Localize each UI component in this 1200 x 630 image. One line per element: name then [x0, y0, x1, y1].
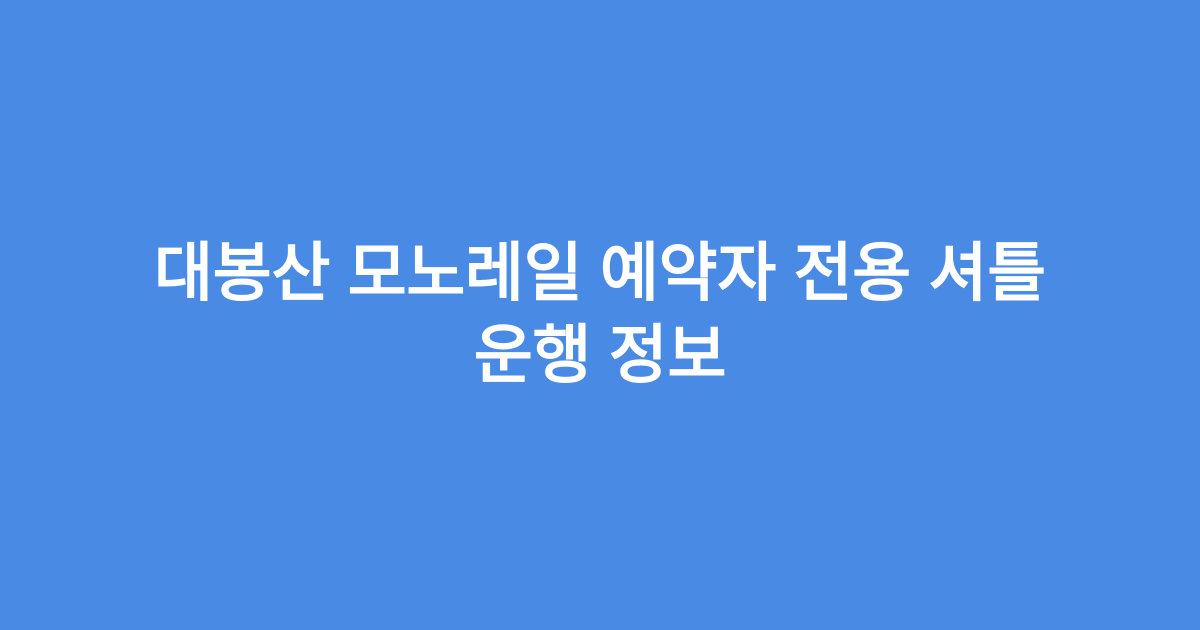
banner-content: 대봉산 모노레일 예약자 전용 셔틀 운행 정보 [56, 233, 1144, 397]
page-title: 대봉산 모노레일 예약자 전용 셔틀 운행 정보 [120, 233, 1080, 397]
share-banner-card: 대봉산 모노레일 예약자 전용 셔틀 운행 정보 [0, 0, 1200, 630]
